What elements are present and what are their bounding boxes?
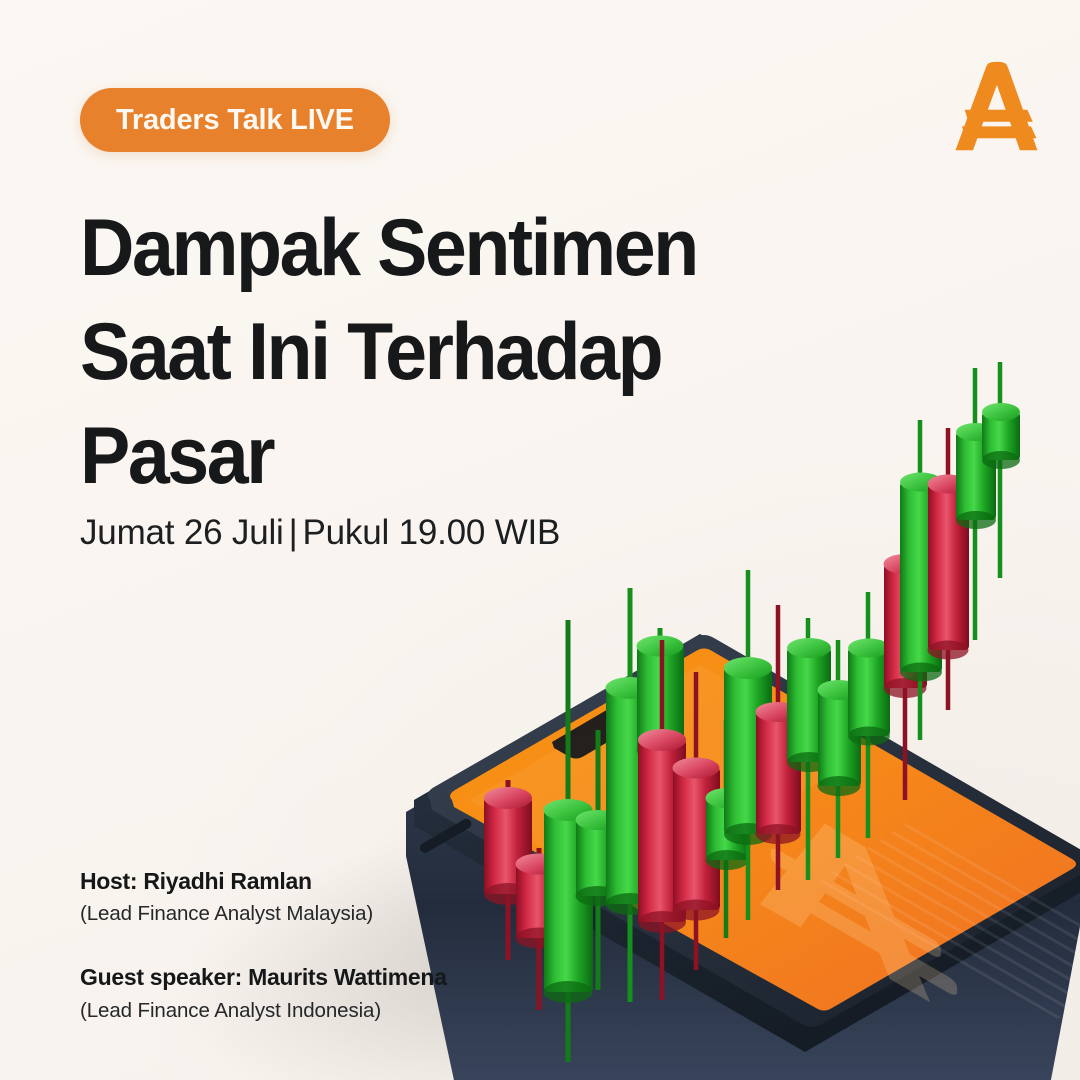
candle-3 [544, 620, 594, 1062]
speaker-credits: Host: Riyadhi Ramlan (Lead Finance Analy… [80, 866, 550, 1025]
guest-credit: Guest speaker: Maurits Wattimena (Lead F… [80, 962, 550, 1024]
candle-12 [787, 618, 831, 880]
candle-13 [818, 640, 862, 858]
headline-line-3: Pasar [80, 404, 750, 508]
octa-a-logo-watermark-icon [760, 786, 957, 1018]
host-role: (Lead Finance Analyst Malaysia) [80, 899, 550, 928]
candle-6 [637, 628, 685, 900]
datetime-separator: | [284, 513, 303, 553]
guest-name: Guest speaker: Maurits Wattimena [80, 962, 550, 992]
phone-notch [552, 705, 643, 759]
phone-volume-button [418, 817, 473, 855]
candle-19 [982, 362, 1020, 578]
live-badge[interactable]: Traders Talk LIVE [80, 88, 390, 152]
candle-17 [928, 428, 970, 710]
octa-a-logo-icon [950, 58, 1042, 156]
candle-18 [956, 368, 996, 640]
candle-15 [884, 530, 928, 800]
event-datetime: Jumat 26 Juli|Pukul 19.00 WIB [80, 513, 560, 553]
headline-line-2: Saat Ini Terhadap [80, 300, 750, 404]
candle-5 [606, 588, 656, 1002]
candle-4 [576, 730, 622, 990]
host-name: Host: Riyadhi Ramlan [80, 866, 550, 896]
guest-role: (Lead Finance Analyst Indonesia) [80, 996, 550, 1025]
event-date: Jumat 26 Juli [80, 513, 284, 552]
candle-8 [673, 672, 721, 970]
poster-canvas: Traders Talk LIVE Dampak Sentimen Saat I… [0, 0, 1080, 1080]
candle-14 [848, 592, 890, 838]
headline-line-1: Dampak Sentimen [80, 196, 750, 300]
page-title: Dampak Sentimen Saat Ini Terhadap Pasar [80, 196, 750, 508]
candle-7 [638, 640, 686, 1000]
event-time: Pukul 19.00 WIB [303, 513, 561, 552]
candle-16 [900, 420, 942, 740]
candle-9 [706, 720, 750, 938]
candle-11 [756, 605, 802, 890]
live-badge-label: Traders Talk LIVE [116, 104, 354, 137]
host-credit: Host: Riyadhi Ramlan (Lead Finance Analy… [80, 866, 550, 928]
candle-10 [724, 570, 772, 920]
